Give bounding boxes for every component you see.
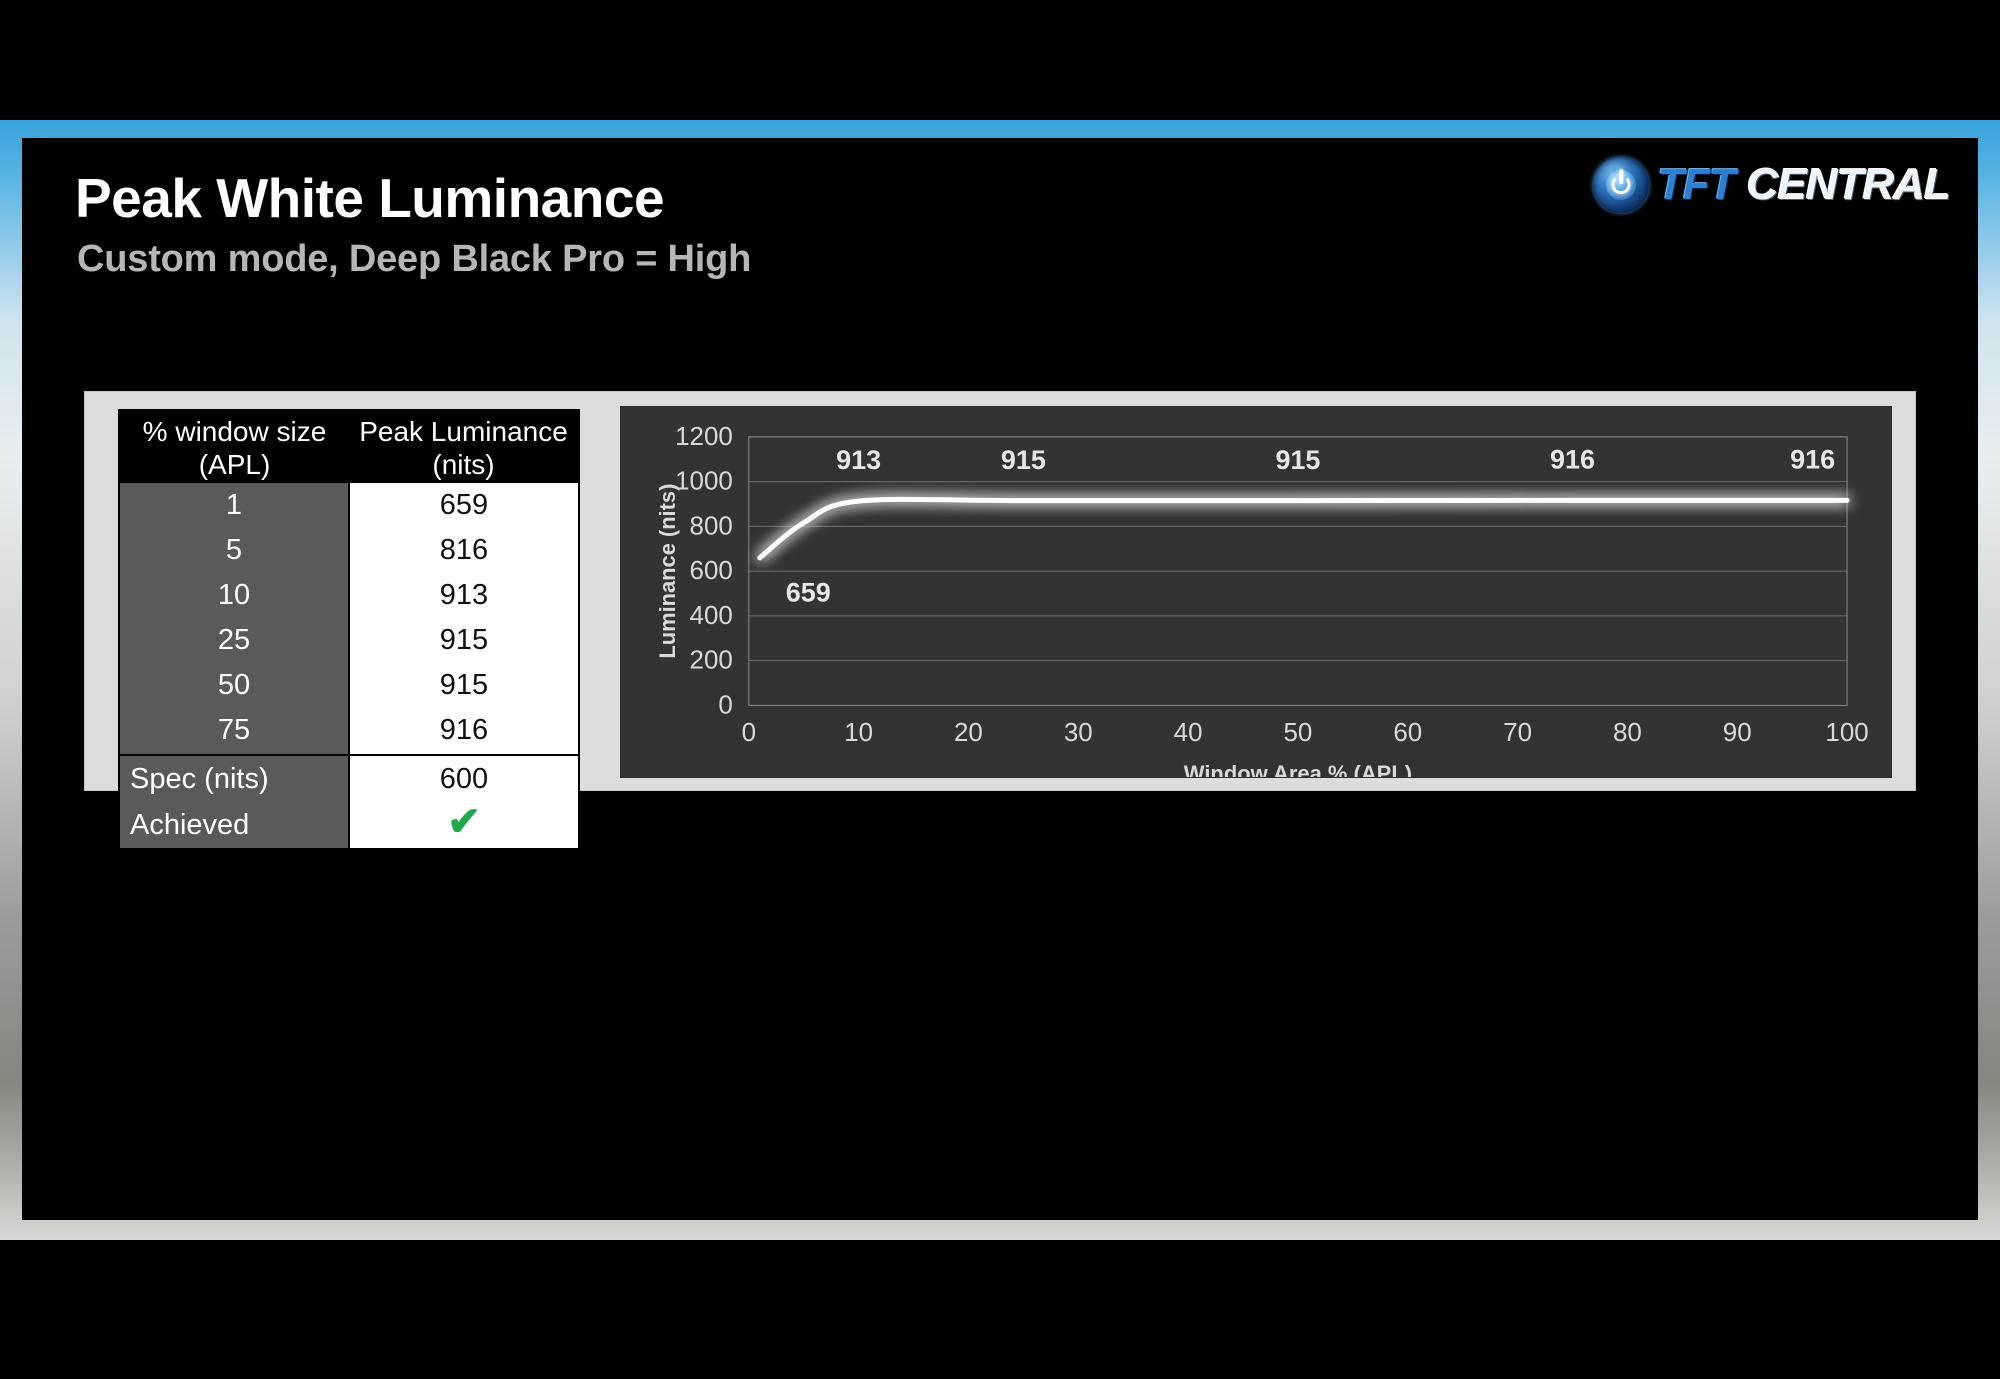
cell-window-size: 10 bbox=[119, 573, 349, 618]
data-label: 916 bbox=[1790, 445, 1835, 475]
table-row: Achieved ✔ bbox=[119, 802, 579, 849]
x-tick-label: 10 bbox=[844, 719, 873, 747]
x-tick-label: 80 bbox=[1613, 719, 1642, 747]
x-tick-label: 50 bbox=[1284, 719, 1313, 747]
slide-frame: Peak White Luminance Custom mode, Deep B… bbox=[0, 120, 2000, 1240]
x-tick-label: 100 bbox=[1825, 719, 1868, 747]
cell-window-size: 1 bbox=[119, 483, 349, 528]
content-panel: % window size (APL) Peak Luminance (nits… bbox=[84, 391, 1916, 791]
brand-logo: TFT CENTRAL bbox=[1593, 154, 1950, 216]
data-label: 916 bbox=[1550, 445, 1595, 475]
logo-text-central: CENTRAL bbox=[1747, 163, 1950, 207]
y-tick-label: 400 bbox=[690, 602, 733, 630]
col-header-peak-luminance-line2: (nits) bbox=[355, 448, 572, 481]
y-tick-label: 200 bbox=[690, 647, 733, 675]
col-header-peak-luminance-line1: Peak Luminance bbox=[355, 415, 572, 448]
data-label: 915 bbox=[1275, 445, 1320, 475]
col-header-window-size-line2: (APL) bbox=[126, 448, 343, 481]
y-tick-label: 0 bbox=[718, 691, 732, 719]
table-row: 1659 bbox=[119, 483, 579, 528]
spec-label: Spec (nits) bbox=[119, 755, 349, 802]
col-header-window-size-line1: % window size bbox=[126, 415, 343, 448]
x-tick-label: 90 bbox=[1723, 719, 1752, 747]
achieved-value: ✔ bbox=[349, 802, 579, 849]
table-row: 50915 bbox=[119, 663, 579, 708]
page-title: Peak White Luminance bbox=[75, 166, 664, 230]
logo-text-tft: TFT bbox=[1657, 163, 1735, 207]
power-icon bbox=[1593, 157, 1649, 213]
power-icon-bar bbox=[1619, 169, 1623, 184]
col-header-peak-luminance: Peak Luminance (nits) bbox=[349, 410, 579, 483]
spec-value: 600 bbox=[349, 755, 579, 802]
x-tick-label: 60 bbox=[1393, 719, 1422, 747]
slide-content: Peak White Luminance Custom mode, Deep B… bbox=[22, 138, 1978, 1220]
cell-window-size: 5 bbox=[119, 528, 349, 573]
data-label: 913 bbox=[836, 445, 881, 475]
table-row: 25915 bbox=[119, 618, 579, 663]
y-tick-label: 600 bbox=[690, 557, 733, 585]
table-row: 75916 bbox=[119, 708, 579, 753]
data-label: 915 bbox=[1001, 445, 1046, 475]
cell-window-size: 50 bbox=[119, 663, 349, 708]
luminance-chart: 020040060080010001200 010203040506070809… bbox=[620, 406, 1892, 778]
luminance-table: % window size (APL) Peak Luminance (nits… bbox=[118, 409, 580, 799]
cell-peak-luminance: 915 bbox=[349, 663, 579, 708]
y-tick-label: 1000 bbox=[675, 468, 733, 496]
cell-window-size: 75 bbox=[119, 708, 349, 753]
table-row: 5816 bbox=[119, 528, 579, 573]
data-label: 659 bbox=[786, 578, 831, 608]
achieved-label: Achieved bbox=[119, 802, 349, 849]
x-tick-label: 30 bbox=[1064, 719, 1093, 747]
chart-x-axis-label: Window Area % (APL) bbox=[1184, 761, 1412, 777]
x-tick-label: 70 bbox=[1503, 719, 1532, 747]
chart-y-axis-label: Luminance (nits) bbox=[655, 484, 680, 659]
chart-svg: 020040060080010001200 010203040506070809… bbox=[621, 407, 1891, 777]
cell-peak-luminance: 816 bbox=[349, 528, 579, 573]
cell-peak-luminance: 659 bbox=[349, 483, 579, 528]
cell-window-size: 25 bbox=[119, 618, 349, 663]
table-row: 10913 bbox=[119, 573, 579, 618]
x-tick-label: 20 bbox=[954, 719, 983, 747]
y-tick-label: 800 bbox=[690, 512, 733, 540]
col-header-window-size: % window size (APL) bbox=[119, 410, 349, 483]
spec-table: Spec (nits) 600 Achieved ✔ bbox=[118, 754, 580, 850]
x-tick-label: 40 bbox=[1174, 719, 1203, 747]
cell-peak-luminance: 913 bbox=[349, 573, 579, 618]
cell-peak-luminance: 916 bbox=[349, 708, 579, 753]
table-row: Spec (nits) 600 bbox=[119, 755, 579, 802]
cell-peak-luminance: 915 bbox=[349, 618, 579, 663]
check-icon: ✔ bbox=[447, 806, 481, 838]
x-tick-label: 0 bbox=[742, 719, 756, 747]
table-header-row: % window size (APL) Peak Luminance (nits… bbox=[119, 410, 579, 483]
y-tick-label: 1200 bbox=[675, 423, 733, 451]
page-subtitle: Custom mode, Deep Black Pro = High bbox=[77, 238, 751, 281]
